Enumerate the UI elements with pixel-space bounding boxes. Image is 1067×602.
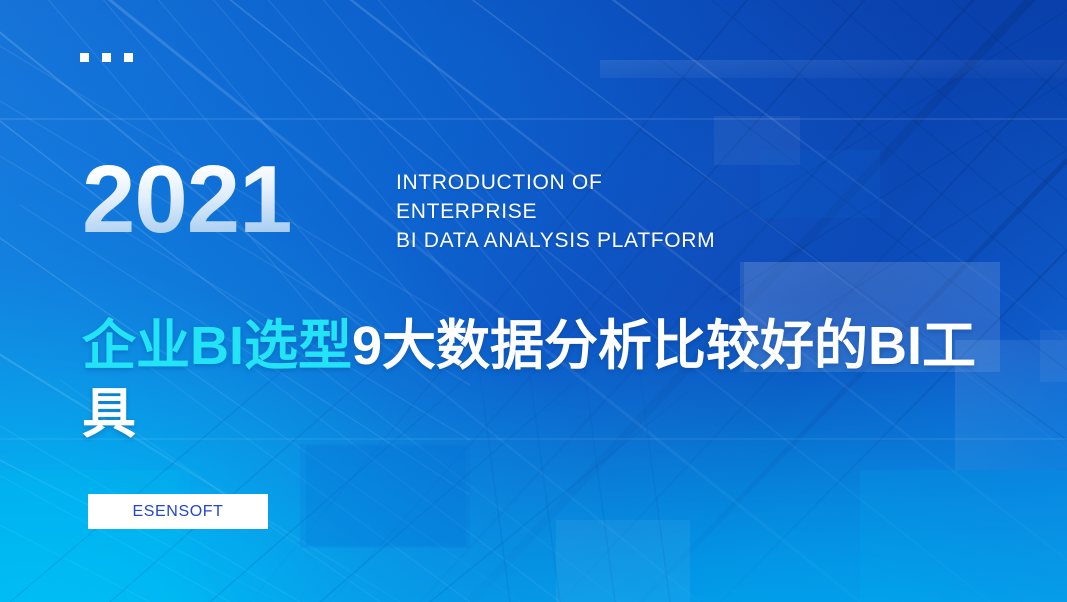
title-slide: 2021 INTRODUCTION OF ENTERPRISE BI DATA … <box>0 0 1067 602</box>
brand-badge[interactable]: ESENSOFT <box>88 494 268 529</box>
glass-panel-left-lower <box>0 470 190 602</box>
glass-panel-center-lower <box>306 446 466 546</box>
page-title-accent: 企业BI选型 <box>82 316 352 376</box>
subtitle-english: INTRODUCTION OF ENTERPRISE BI DATA ANALY… <box>396 168 715 255</box>
brand-label: ESENSOFT <box>132 503 223 521</box>
decorative-square-icon <box>80 53 89 62</box>
decorative-square-icon <box>124 53 133 62</box>
page-title: 企业BI选型9大数据分析比较好的BI工具 <box>82 312 1012 448</box>
decorative-square-icon <box>102 53 111 62</box>
highlight-scanline-top <box>0 118 1067 120</box>
decorative-squares <box>80 53 133 62</box>
year-label: 2021 <box>82 152 292 248</box>
